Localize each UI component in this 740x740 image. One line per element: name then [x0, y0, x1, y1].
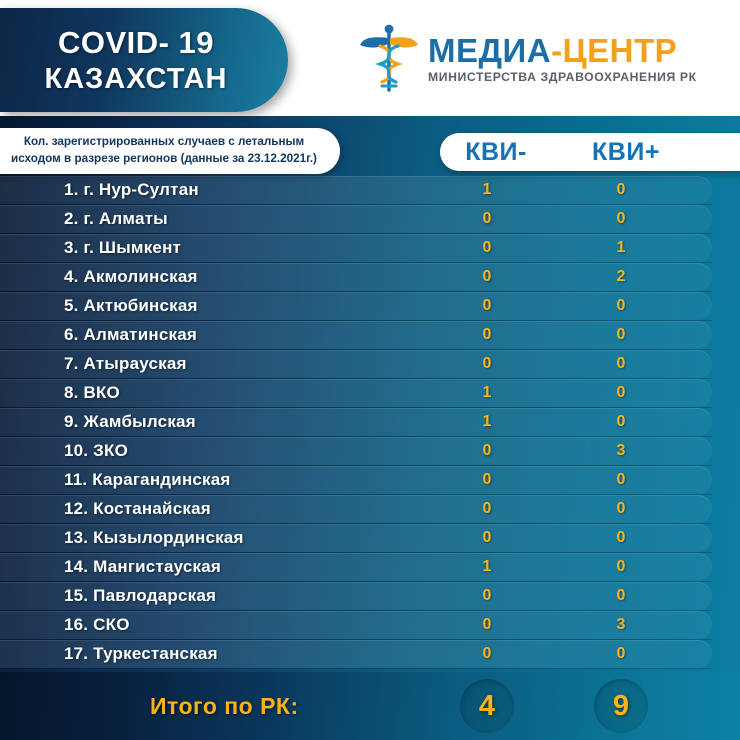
- table-row: 10. ЗКО03: [0, 437, 712, 465]
- region-name: 11. Карагандинская: [64, 466, 231, 494]
- top-white-strip: [0, 0, 740, 8]
- table-row: 12. Костанайская00: [0, 495, 712, 523]
- cell-kvi-negative: 0: [440, 263, 534, 291]
- cell-kvi-negative: 0: [440, 495, 534, 523]
- table-row: 2. г. Алматы00: [0, 205, 712, 233]
- cell-kvi-negative: 1: [440, 176, 534, 204]
- region-name: 14. Мангистауская: [64, 553, 221, 581]
- table-row: 7. Атырауская00: [0, 350, 712, 378]
- column-header-kvi-positive: КВИ+: [576, 133, 676, 171]
- cell-kvi-positive: 0: [574, 379, 668, 407]
- region-name: 4. Акмолинская: [64, 263, 198, 291]
- cell-kvi-positive: 0: [574, 205, 668, 233]
- cell-kvi-positive: 0: [574, 176, 668, 204]
- total-label: Итого по РК:: [150, 672, 299, 740]
- table-row: 6. Алматинская00: [0, 321, 712, 349]
- cell-kvi-negative: 1: [440, 379, 534, 407]
- cell-kvi-negative: 0: [440, 321, 534, 349]
- table-row: 3. г. Шымкент01: [0, 234, 712, 262]
- region-table: 1. г. Нур-Султан102. г. Алматы003. г. Шы…: [0, 176, 740, 669]
- media-center-logo: МЕДИА-ЦЕНТР МИНИСТЕРСТВА ЗДРАВООХРАНЕНИЯ…: [358, 16, 718, 102]
- cell-kvi-negative: 0: [440, 640, 534, 668]
- logo-wordmark: МЕДИА-ЦЕНТР: [428, 34, 697, 68]
- table-row: 17. Туркестанская00: [0, 640, 712, 668]
- logo-wordmark-blue: МЕДИА: [428, 32, 551, 69]
- caduceus-icon: [358, 22, 420, 96]
- table-row: 11. Карагандинская00: [0, 466, 712, 494]
- region-name: 15. Павлодарская: [64, 582, 216, 610]
- column-header-pill: КВИ- КВИ+: [440, 133, 740, 171]
- cell-kvi-negative: 0: [440, 350, 534, 378]
- region-name: 16. СКО: [64, 611, 130, 639]
- table-row: 1. г. Нур-Султан10: [0, 176, 712, 204]
- cell-kvi-positive: 2: [574, 263, 668, 291]
- cell-kvi-positive: 0: [574, 640, 668, 668]
- logo-subtitle: МИНИСТЕРСТВА ЗДРАВООХРАНЕНИЯ РК: [428, 70, 697, 84]
- cell-kvi-negative: 0: [440, 582, 534, 610]
- title-text-group: COVID- 19 КАЗАХСТАН: [0, 8, 272, 112]
- cell-kvi-positive: 0: [574, 466, 668, 494]
- table-row: 5. Актюбинская00: [0, 292, 712, 320]
- cell-kvi-positive: 0: [574, 495, 668, 523]
- region-name: 6. Алматинская: [64, 321, 197, 349]
- region-name: 9. Жамбылская: [64, 408, 196, 436]
- total-kvi-positive: 9: [594, 679, 648, 733]
- subtitle-line-1: Кол. зарегистрированных случаев с леталь…: [24, 134, 304, 151]
- cell-kvi-positive: 0: [574, 553, 668, 581]
- title-banner: COVID- 19 КАЗАХСТАН: [0, 8, 288, 112]
- cell-kvi-negative: 1: [440, 408, 534, 436]
- table-row: 8. ВКО10: [0, 379, 712, 407]
- cell-kvi-positive: 0: [574, 408, 668, 436]
- page-title-line2: КАЗАХСТАН: [45, 63, 228, 96]
- infographic-page: COVID- 19 КАЗАХСТАН МЕДИА-ЦЕНТР МИНИСТЕР…: [0, 0, 740, 740]
- cell-kvi-negative: 0: [440, 524, 534, 552]
- cell-kvi-positive: 1: [574, 234, 668, 262]
- cell-kvi-positive: 0: [574, 582, 668, 610]
- total-kvi-negative: 4: [460, 679, 514, 733]
- cell-kvi-negative: 0: [440, 611, 534, 639]
- cell-kvi-positive: 0: [574, 350, 668, 378]
- region-name: 8. ВКО: [64, 379, 120, 407]
- cell-kvi-negative: 0: [440, 292, 534, 320]
- cell-kvi-negative: 0: [440, 234, 534, 262]
- total-row: Итого по РК: 4 9: [0, 672, 740, 740]
- region-name: 3. г. Шымкент: [64, 234, 181, 262]
- region-name: 1. г. Нур-Султан: [64, 176, 199, 204]
- cell-kvi-positive: 0: [574, 292, 668, 320]
- region-name: 7. Атырауская: [64, 350, 187, 378]
- region-name: 2. г. Алматы: [64, 205, 168, 233]
- cell-kvi-positive: 0: [574, 524, 668, 552]
- cell-kvi-negative: 0: [440, 466, 534, 494]
- page-title-line1: COVID- 19: [58, 25, 214, 61]
- table-row: 14. Мангистауская10: [0, 553, 712, 581]
- table-row: 13. Кызылординская00: [0, 524, 712, 552]
- cell-kvi-positive: 3: [574, 611, 668, 639]
- region-name: 17. Туркестанская: [64, 640, 218, 668]
- logo-text-group: МЕДИА-ЦЕНТР МИНИСТЕРСТВА ЗДРАВООХРАНЕНИЯ…: [428, 34, 697, 85]
- table-row: 9. Жамбылская10: [0, 408, 712, 436]
- cell-kvi-negative: 0: [440, 437, 534, 465]
- table-row: 4. Акмолинская02: [0, 263, 712, 291]
- table-row: 16. СКО03: [0, 611, 712, 639]
- subtitle-line-2: исходом в разрезе регионов (данные за 23…: [11, 151, 317, 168]
- cell-kvi-positive: 0: [574, 321, 668, 349]
- column-header-kvi-negative: КВИ-: [446, 133, 546, 171]
- region-name: 12. Костанайская: [64, 495, 211, 523]
- region-name: 10. ЗКО: [64, 437, 128, 465]
- subtitle-pill: Кол. зарегистрированных случаев с леталь…: [0, 128, 340, 174]
- region-name: 13. Кызылординская: [64, 524, 244, 552]
- cell-kvi-positive: 3: [574, 437, 668, 465]
- table-row: 15. Павлодарская00: [0, 582, 712, 610]
- logo-wordmark-orange: -ЦЕНТР: [551, 32, 677, 69]
- cell-kvi-negative: 1: [440, 553, 534, 581]
- region-name: 5. Актюбинская: [64, 292, 198, 320]
- cell-kvi-negative: 0: [440, 205, 534, 233]
